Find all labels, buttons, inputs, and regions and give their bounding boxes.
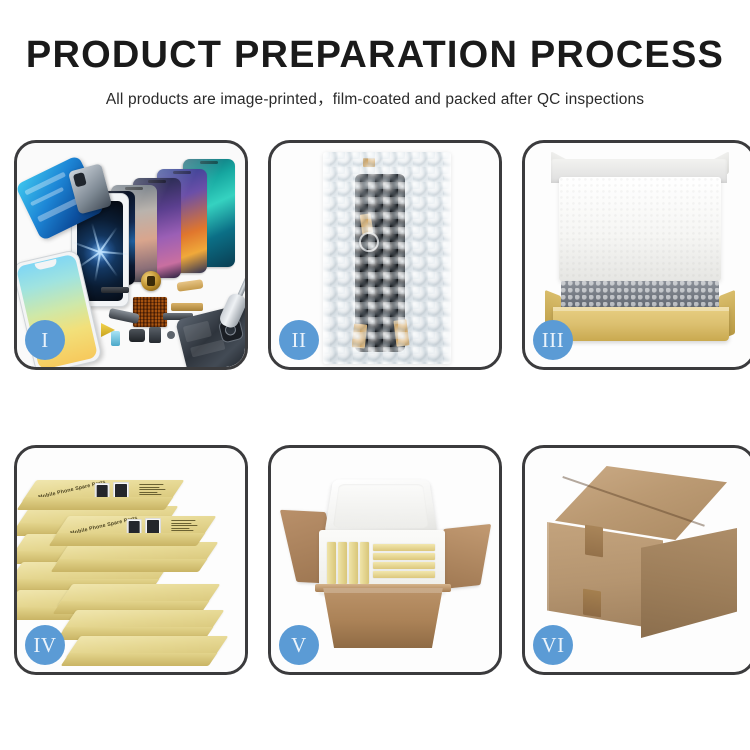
step-panel-3: III — [522, 140, 750, 370]
step-1-image: I — [17, 143, 245, 367]
retail-box — [73, 636, 221, 662]
step-5-image: V — [271, 448, 499, 672]
packed-boxes-group — [327, 538, 437, 584]
step-3-image: III — [525, 143, 750, 367]
step-badge-3: III — [533, 320, 573, 360]
page-title: PRODUCT PREPARATION PROCESS — [0, 36, 750, 74]
step-badge-4: IV — [25, 625, 65, 665]
bubble-texture-layer-2 — [323, 152, 451, 364]
white-foam-sheet — [559, 177, 721, 281]
copper-mesh-part — [133, 297, 167, 327]
page-subtitle: All products are image-printed，film-coat… — [0, 87, 750, 109]
carton-tape-upper — [585, 525, 603, 558]
step-panel-6: VI — [522, 445, 750, 675]
kraft-box-front — [553, 307, 729, 341]
flex-cable-2 — [171, 303, 203, 311]
step-badge-2: II — [279, 320, 319, 360]
retail-box — [65, 584, 213, 610]
styrofoam-lid — [324, 479, 438, 535]
camera-module-part — [149, 327, 161, 343]
step-2-image: II — [271, 143, 499, 367]
step-4-image: Mobile Phone Spare Parts — [17, 448, 245, 672]
retail-box-labelled: Mobile Phone Spare Parts — [61, 516, 209, 542]
vibration-motor-part — [141, 271, 161, 291]
header: PRODUCT PREPARATION PROCESS All products… — [0, 36, 750, 109]
step-panel-1: I — [14, 140, 248, 370]
step-badge-6: VI — [533, 625, 573, 665]
carton-edge-highlight — [547, 522, 549, 630]
carton-front-panel — [315, 588, 451, 648]
retail-box — [69, 610, 217, 636]
step-badge-5: V — [279, 625, 319, 665]
loudspeaker-part — [129, 329, 145, 342]
bag-seam-right — [444, 152, 451, 364]
bubble-wrap-bag — [323, 152, 451, 364]
retail-box-labelled: Mobile Phone Spare Parts — [29, 480, 177, 506]
step-panel-2: II — [268, 140, 502, 370]
step-panel-5: V — [268, 445, 502, 675]
button-part — [167, 331, 175, 339]
product-preparation-infographic: PRODUCT PREPARATION PROCESS All products… — [0, 0, 750, 750]
battery-connector-part — [111, 331, 120, 346]
step-badge-1: I — [25, 320, 65, 360]
bag-seam-left — [323, 152, 330, 364]
process-steps-grid: I II — [14, 140, 736, 675]
earpiece-speaker-part — [101, 287, 129, 293]
carton-tape-lower — [583, 589, 601, 618]
sealed-shipping-carton — [541, 466, 741, 654]
step-panel-4: Mobile Phone Spare Parts — [14, 445, 248, 675]
step-6-image: VI — [525, 448, 750, 672]
flex-cable-1 — [177, 279, 204, 292]
